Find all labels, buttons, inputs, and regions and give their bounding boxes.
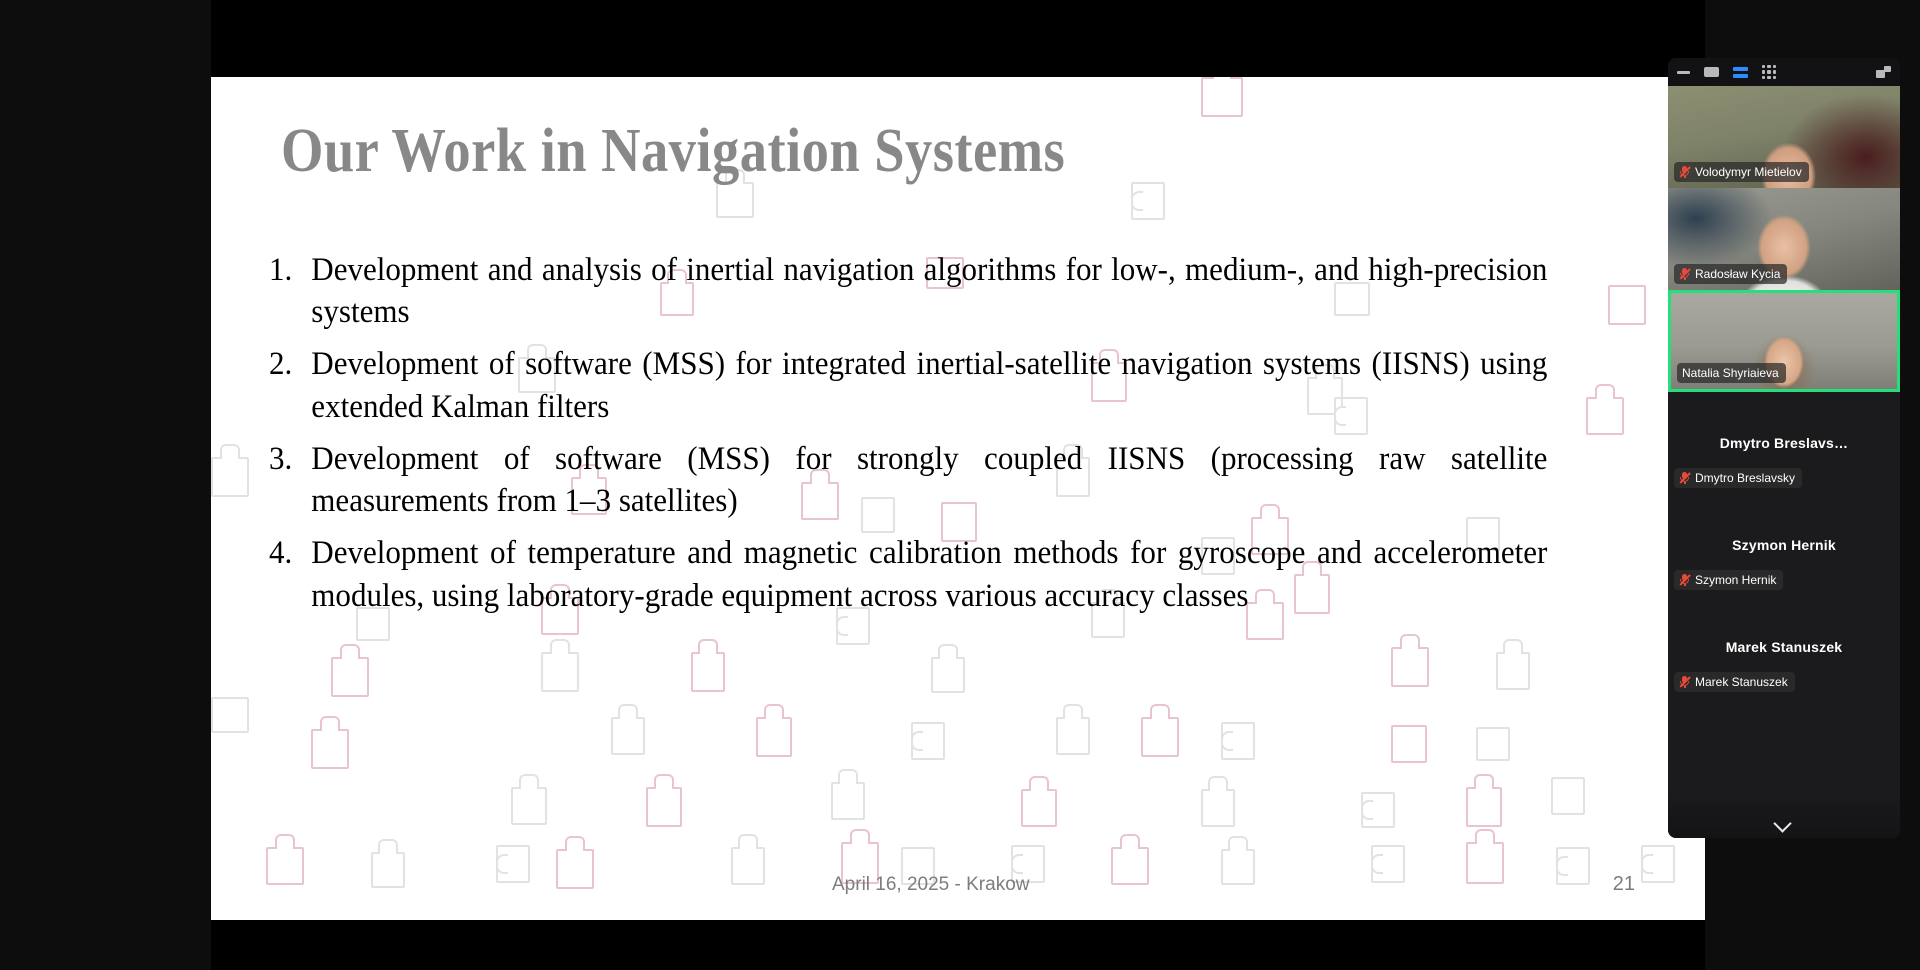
participant-display-name: Dmytro Breslavs… <box>1720 435 1848 451</box>
participant-display-name: Szymon Hernik <box>1732 537 1836 553</box>
list-item-text: Development of temperature and magnetic … <box>311 535 1547 613</box>
participant-name: Radosław Kycia <box>1695 266 1780 282</box>
participant-name: Dmytro Breslavsky <box>1695 470 1795 486</box>
participant-name: Volodymyr Mietielov <box>1695 164 1802 180</box>
list-item-number: 1. <box>269 249 292 291</box>
slide-list-item: 3. Development of software (MSS) for str… <box>269 438 1547 522</box>
grid-view-icon[interactable] <box>1762 65 1776 79</box>
slide-page-number: 21 <box>1613 873 1635 896</box>
participant-display-name: Marek Stanuszek <box>1726 639 1843 655</box>
list-item-number: 3. <box>269 438 292 480</box>
list-item-text: Development and analysis of inertial nav… <box>311 252 1547 330</box>
chevron-down-icon[interactable] <box>1773 816 1795 830</box>
slide-title: Our Work in Navigation Systems <box>281 117 1460 185</box>
strip-view-icon[interactable] <box>1733 67 1748 78</box>
picture-in-picture-icon[interactable] <box>1876 66 1891 78</box>
list-item-text: Development of software (MSS) for strong… <box>311 441 1547 519</box>
slide-list-item: 4. Development of temperature and magnet… <box>269 532 1547 616</box>
minimize-icon[interactable] <box>1677 71 1690 74</box>
participant-name: Marek Stanuszek <box>1695 674 1788 690</box>
slide-bullet-list: 1. Development and analysis of inertial … <box>269 249 1629 627</box>
list-item-number: 2. <box>269 343 292 385</box>
speaker-view-icon[interactable] <box>1704 67 1719 77</box>
slide-list-item: 2. Development of software (MSS) for int… <box>269 343 1547 427</box>
slide-footer-date: April 16, 2025 - Krakow <box>832 874 1030 896</box>
list-item-text: Development of software (MSS) for integr… <box>311 346 1547 424</box>
slide-list-item: 1. Development and analysis of inertial … <box>269 249 1547 333</box>
list-item-number: 4. <box>269 532 292 574</box>
presentation-slide: Our Work in Navigation Systems 1. Develo… <box>211 77 1705 920</box>
screen-share-region: Our Work in Navigation Systems 1. Develo… <box>211 0 1705 970</box>
participant-name: Szymon Hernik <box>1695 572 1776 588</box>
